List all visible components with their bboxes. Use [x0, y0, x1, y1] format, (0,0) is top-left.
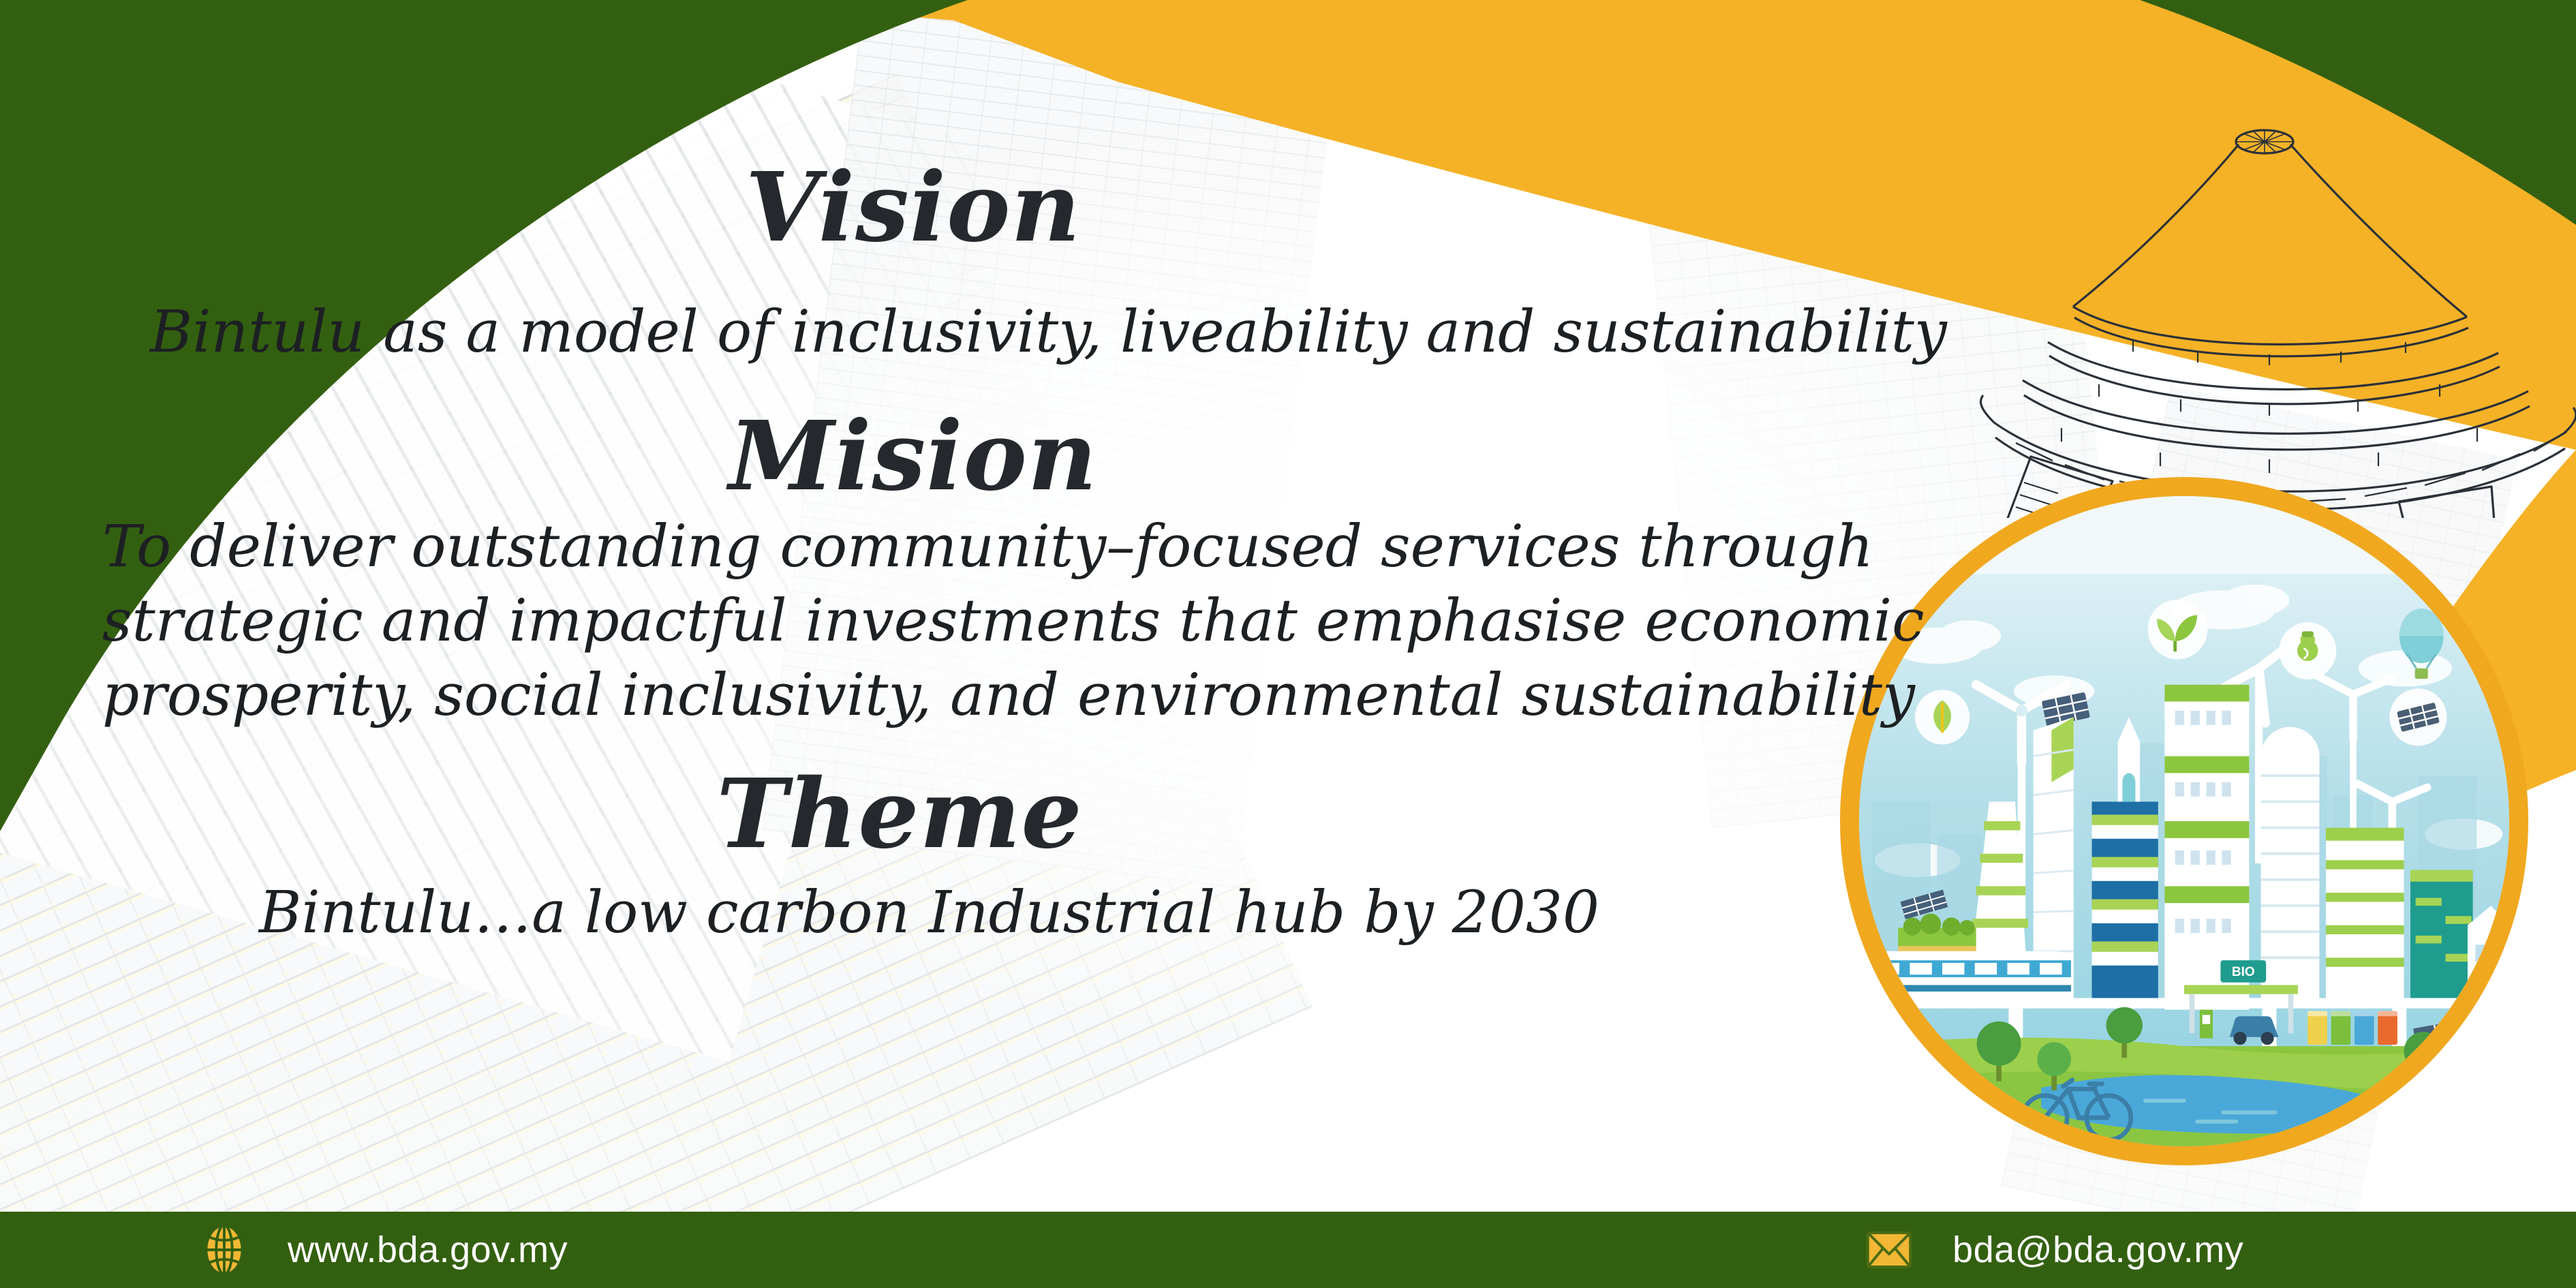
- mission-line-3: prosperity, social inclusivity, and envi…: [102, 665, 1738, 726]
- envelope-icon: [1862, 1223, 1916, 1276]
- website-contact[interactable]: www.bda.gov.my: [198, 1223, 568, 1276]
- bda-vision-mission-banner: BIO: [0, 0, 2576, 1288]
- eco-city-svg: BIO: [1859, 496, 2509, 1146]
- mission-text-block: To deliver outstanding community–focused…: [102, 517, 1738, 739]
- contact-footer: www.bda.gov.my bda@bda.gov.my: [0, 1212, 2576, 1288]
- bintulu-pavilion-line-art: [1929, 102, 2576, 518]
- train: [1866, 951, 2071, 998]
- mission-heading: Mision: [504, 409, 1322, 504]
- globe-icon: [198, 1223, 251, 1276]
- eco-city-illustration: BIO: [1840, 477, 2528, 1165]
- mission-line-2: strategic and impactful investments that…: [102, 591, 1738, 652]
- email-label: bda@bda.gov.my: [1952, 1229, 2243, 1271]
- bio-sign: BIO: [2220, 960, 2266, 982]
- theme-heading: Theme: [491, 767, 1308, 862]
- vision-heading: Vision: [504, 160, 1322, 256]
- mission-line-1: To deliver outstanding community–focused…: [102, 517, 1738, 578]
- text-content: Vision Bintulu as a model of inclusivity…: [0, 0, 1840, 1212]
- theme-text: Bintulu…a low carbon Industrial hub by 2…: [259, 883, 1486, 944]
- svg-text:BIO: BIO: [2232, 965, 2255, 979]
- vision-text: Bintulu as a model of inclusivity, livea…: [150, 302, 1676, 363]
- email-contact[interactable]: bda@bda.gov.my: [1862, 1223, 2243, 1276]
- website-label: www.bda.gov.my: [288, 1229, 568, 1271]
